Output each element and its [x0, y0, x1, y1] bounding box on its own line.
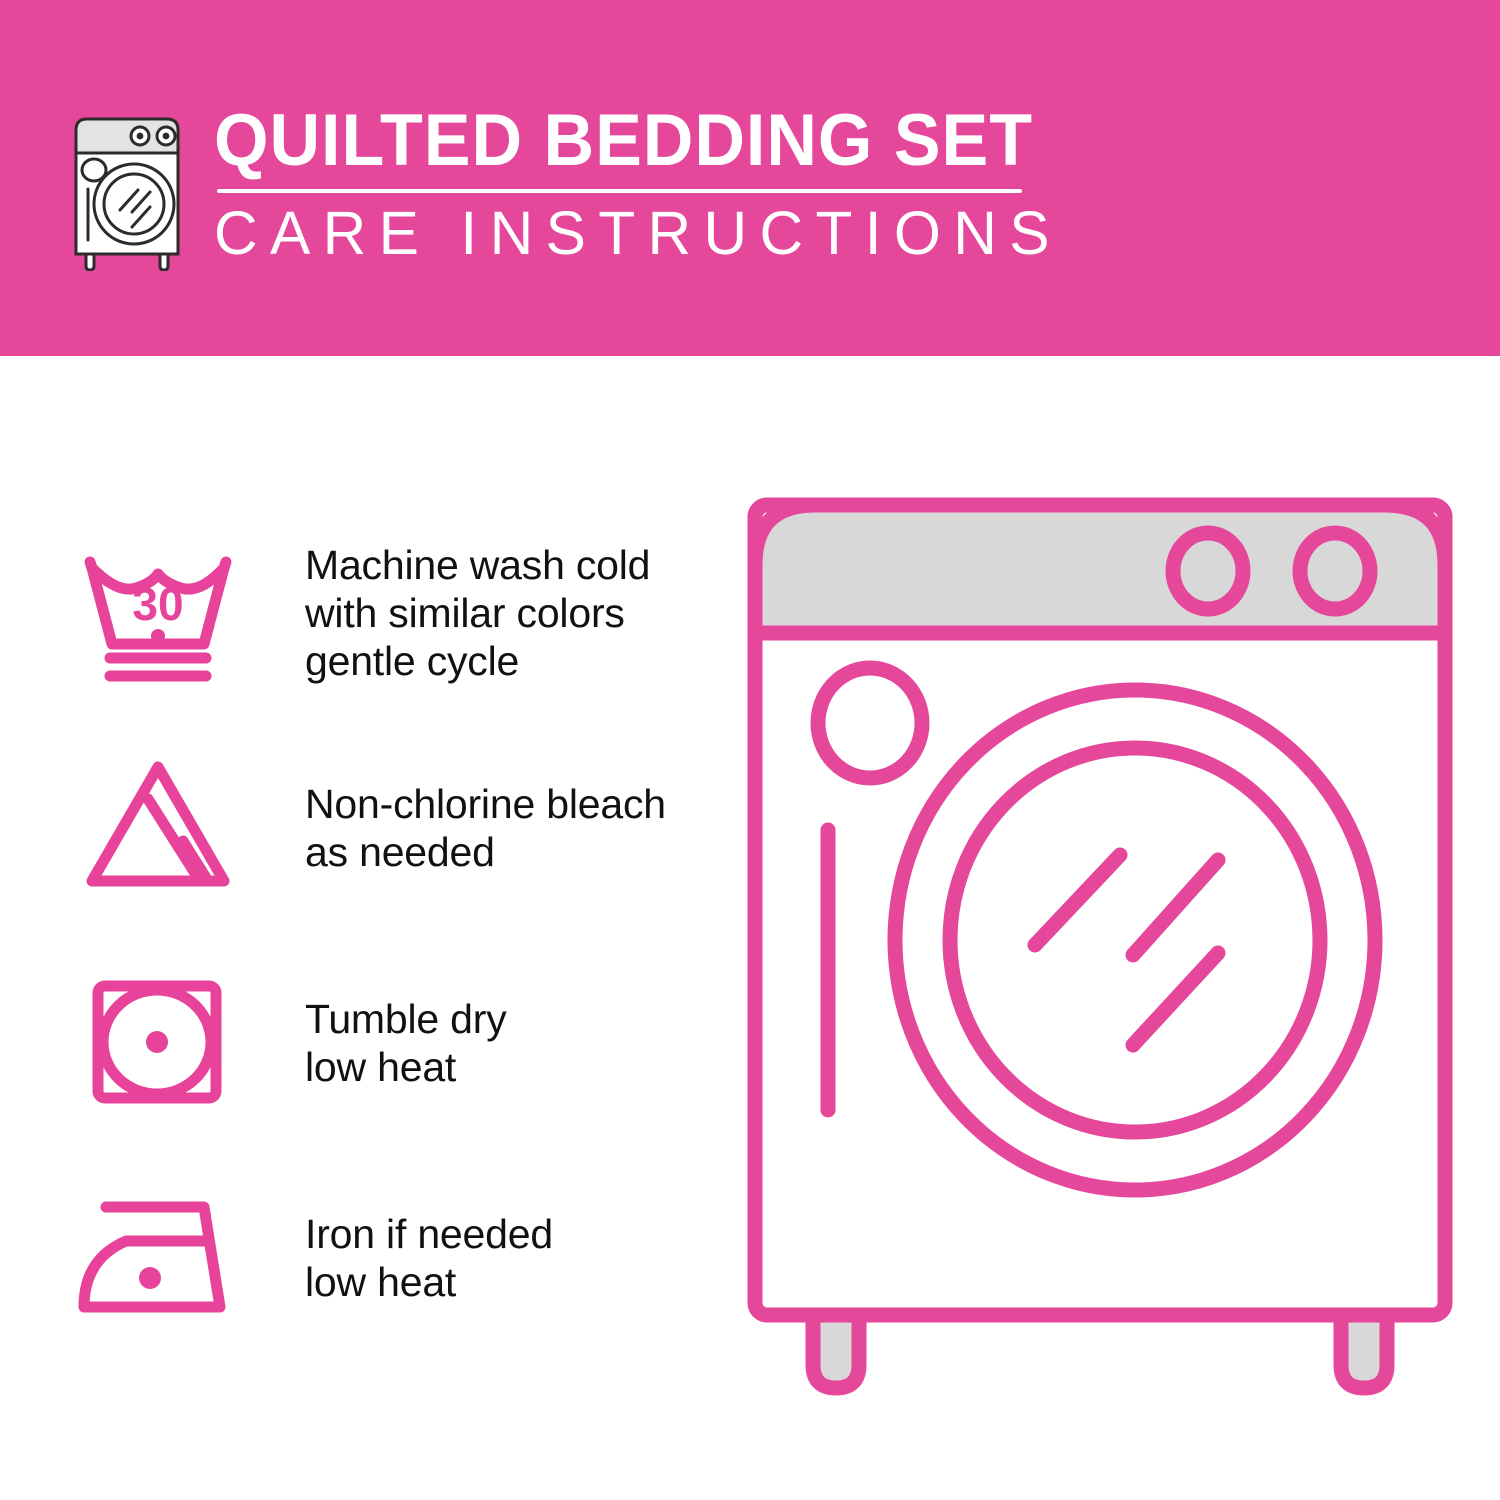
- leg-right: [1341, 1315, 1387, 1388]
- care-row-bleach: Non-chlorine bleach as needed: [70, 720, 720, 935]
- iron-dot-icon: [139, 1267, 161, 1289]
- wash-tub-icon: 30: [70, 538, 245, 688]
- leg-left: [813, 1315, 859, 1388]
- washing-machine-illustration: [735, 485, 1465, 1425]
- detergent-dispenser-icon: [818, 668, 922, 778]
- header-content: QUILTED BEDDING SET CARE INSTRUCTIONS: [62, 98, 1070, 271]
- header-banner: QUILTED BEDDING SET CARE INSTRUCTIONS: [0, 0, 1500, 356]
- page-subtitle: CARE INSTRUCTIONS: [214, 201, 1062, 265]
- care-text-iron: Iron if needed low heat: [305, 1210, 553, 1306]
- washing-machine-icon: [62, 106, 192, 271]
- care-row-machine-wash: 30 Machine wash cold with similar colors…: [70, 505, 720, 720]
- care-row-iron: Iron if needed low heat: [70, 1150, 720, 1365]
- wash-temperature-label: 30: [132, 578, 183, 630]
- tumble-dry-dot-icon: [146, 1031, 168, 1053]
- care-text-bleach: Non-chlorine bleach as needed: [305, 780, 666, 876]
- care-text-machine-wash: Machine wash cold with similar colors ge…: [305, 541, 650, 685]
- iron-icon: [70, 1183, 245, 1333]
- knob-left-icon[interactable]: [1173, 533, 1243, 609]
- bleach-triangle-icon: [70, 753, 245, 903]
- page-title: QUILTED BEDDING SET: [214, 102, 1036, 180]
- care-row-tumble-dry: Tumble dry low heat: [70, 935, 720, 1150]
- title-divider: [217, 189, 1022, 193]
- header-text-block: QUILTED BEDDING SET CARE INSTRUCTIONS: [214, 98, 1070, 265]
- tumble-dry-icon: [70, 968, 245, 1118]
- wash-dot-icon: [151, 629, 165, 643]
- knob-right-icon[interactable]: [1300, 533, 1370, 609]
- care-text-tumble-dry: Tumble dry low heat: [305, 995, 507, 1091]
- care-instructions-list: 30 Machine wash cold with similar colors…: [70, 505, 720, 1365]
